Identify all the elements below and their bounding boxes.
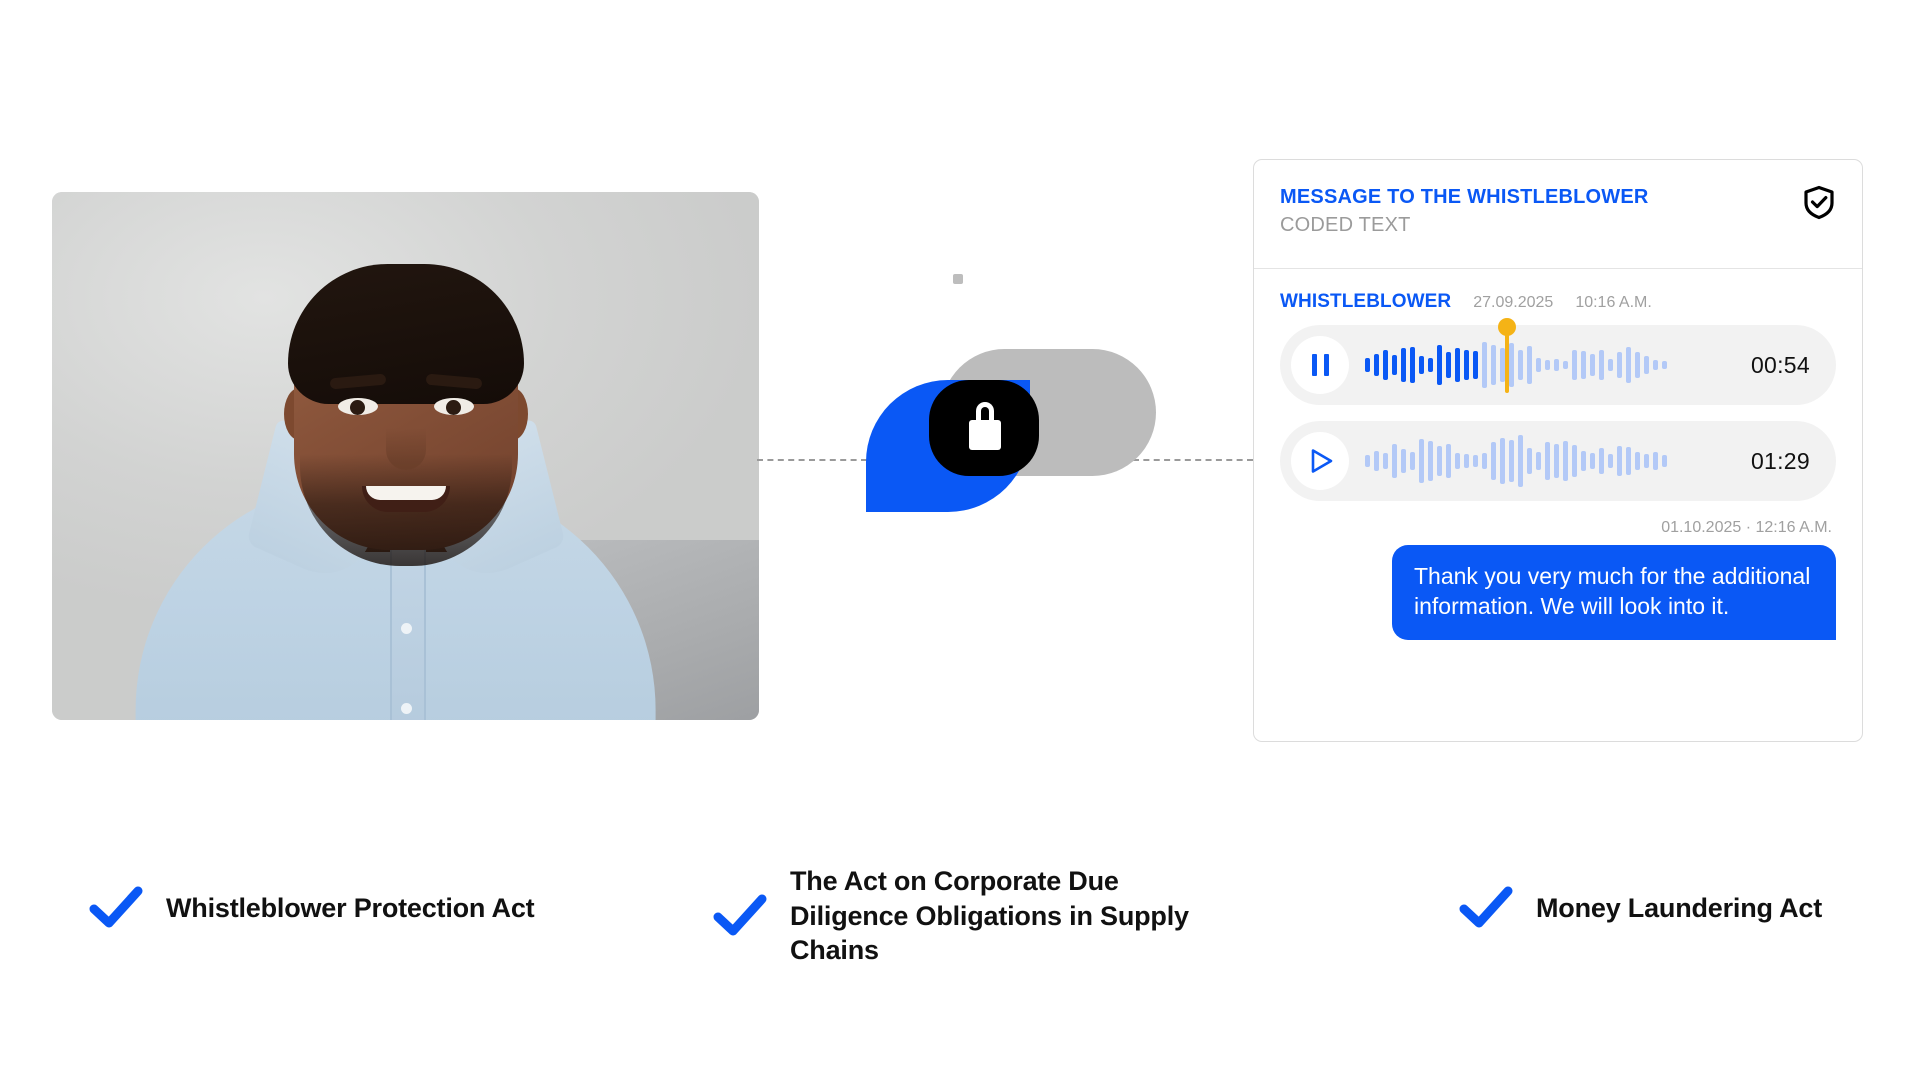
shirt-button bbox=[401, 623, 412, 634]
check-icon bbox=[712, 888, 768, 944]
waveform-bar bbox=[1509, 440, 1514, 482]
waveform-bar bbox=[1617, 352, 1622, 378]
waveform-bar bbox=[1581, 451, 1586, 471]
audio-duration: 00:54 bbox=[1751, 352, 1810, 379]
waveform-bar bbox=[1428, 358, 1433, 372]
blue-leaf-shape bbox=[866, 380, 1030, 512]
lock-shackle bbox=[976, 402, 994, 424]
waveform-bar bbox=[1554, 444, 1559, 478]
reply-time: 12:16 A.M. bbox=[1756, 519, 1833, 536]
waveform-bar bbox=[1518, 435, 1523, 487]
waveform-bar bbox=[1608, 454, 1613, 468]
check-icon bbox=[1458, 880, 1514, 936]
reply-separator: · bbox=[1746, 519, 1751, 536]
waveform-bar bbox=[1437, 345, 1442, 385]
audio-waveform[interactable] bbox=[1365, 337, 1733, 393]
shield-check-icon bbox=[1801, 184, 1837, 220]
waveform-bar bbox=[1374, 354, 1379, 376]
waveform-bar bbox=[1383, 453, 1388, 469]
waveform-bar bbox=[1464, 350, 1469, 380]
teeth-shape bbox=[366, 486, 446, 500]
waveform-bar bbox=[1374, 451, 1379, 471]
waveform-bar bbox=[1437, 446, 1442, 476]
audio-message-row[interactable]: 01:29 bbox=[1280, 421, 1836, 501]
waveform-bar bbox=[1554, 359, 1559, 371]
message-sender: WHISTLEBLOWER bbox=[1280, 291, 1451, 313]
message-meta: WHISTLEBLOWER 27.09.2025 10:16 A.M. bbox=[1280, 291, 1836, 313]
waveform-bar bbox=[1653, 452, 1658, 470]
audio-playhead[interactable] bbox=[1505, 331, 1509, 393]
waveform-bar bbox=[1662, 455, 1667, 467]
dashed-line-left bbox=[757, 459, 867, 461]
waveform-bar bbox=[1383, 350, 1388, 380]
waveform-bar bbox=[1365, 455, 1370, 467]
message-date: 27.09.2025 bbox=[1473, 294, 1553, 312]
waveform-bar bbox=[1662, 361, 1667, 369]
waveform-bar bbox=[1401, 348, 1406, 382]
waveform-bar bbox=[1635, 452, 1640, 470]
eye-left bbox=[338, 398, 378, 415]
waveform-bar bbox=[1599, 350, 1604, 380]
waveform-bar bbox=[1608, 359, 1613, 371]
waveform-bar bbox=[1473, 351, 1478, 379]
waveform-bar bbox=[1491, 442, 1496, 480]
card-title: MESSAGE TO THE WHISTLEBLOWER bbox=[1280, 186, 1836, 209]
eye-right bbox=[434, 398, 474, 415]
waveform-bar bbox=[1527, 346, 1532, 384]
card-subtitle: CODED TEXT bbox=[1280, 214, 1836, 237]
waveform-bar bbox=[1428, 441, 1433, 481]
waveform-bar bbox=[1455, 348, 1460, 382]
waveform-bar bbox=[1419, 356, 1424, 374]
waveform-bar bbox=[1392, 355, 1397, 375]
waveform-bar bbox=[1545, 360, 1550, 370]
waveform-bar bbox=[1500, 438, 1505, 484]
waveform-bar bbox=[1446, 444, 1451, 478]
waveform-bar bbox=[1545, 442, 1550, 480]
waveform-bar bbox=[1626, 347, 1631, 383]
waveform-bar bbox=[1482, 453, 1487, 469]
waveform-bar bbox=[1536, 358, 1541, 372]
waveform-bar bbox=[1509, 343, 1514, 387]
waveform-bar bbox=[1590, 453, 1595, 469]
waveform-bar bbox=[1419, 439, 1424, 483]
gray-pill-shape bbox=[941, 349, 1156, 476]
dashed-line-right bbox=[1133, 459, 1253, 461]
waveform-bar bbox=[1644, 454, 1649, 468]
feature-item-whistleblower-protection-act: Whistleblower Protection Act bbox=[88, 880, 534, 936]
message-card: MESSAGE TO THE WHISTLEBLOWER CODED TEXT … bbox=[1253, 159, 1863, 742]
waveform-bar bbox=[1572, 445, 1577, 477]
waveform-bar bbox=[1626, 447, 1631, 475]
reply-meta: 01.10.2025 · 12:16 A.M. bbox=[1280, 519, 1832, 537]
waveform-bar bbox=[1581, 351, 1586, 379]
waveform-bar bbox=[1446, 352, 1451, 378]
lock-body bbox=[969, 420, 1001, 450]
waveform-bar bbox=[1455, 453, 1460, 469]
reply-date: 01.10.2025 bbox=[1661, 519, 1741, 536]
shirt-button bbox=[401, 703, 412, 714]
waveform-bar bbox=[1653, 360, 1658, 370]
waveform-bar bbox=[1410, 452, 1415, 470]
audio-waveform[interactable] bbox=[1365, 433, 1733, 489]
card-header: MESSAGE TO THE WHISTLEBLOWER CODED TEXT bbox=[1254, 160, 1862, 269]
waveform-bar bbox=[1365, 358, 1370, 372]
black-badge-shape bbox=[929, 380, 1039, 476]
card-body: WHISTLEBLOWER 27.09.2025 10:16 A.M. 00:5… bbox=[1254, 269, 1862, 640]
square-dot-icon bbox=[953, 274, 963, 284]
waveform-bar bbox=[1527, 448, 1532, 474]
pause-icon bbox=[1312, 354, 1329, 376]
feature-label: Money Laundering Act bbox=[1536, 891, 1822, 926]
waveform-bar bbox=[1392, 444, 1397, 478]
waveform-bar bbox=[1644, 356, 1649, 374]
play-button[interactable] bbox=[1291, 432, 1349, 490]
feature-item-money-laundering-act: Money Laundering Act bbox=[1458, 880, 1822, 936]
feature-label: The Act on Corporate Due Diligence Oblig… bbox=[790, 864, 1220, 968]
audio-message-row[interactable]: 00:54 bbox=[1280, 325, 1836, 405]
waveform-bar bbox=[1590, 354, 1595, 376]
reply-bubble: Thank you very much for the additional i… bbox=[1392, 545, 1836, 640]
pause-button[interactable] bbox=[1291, 336, 1349, 394]
waveform-bar bbox=[1617, 446, 1622, 476]
waveform-bar bbox=[1599, 448, 1604, 474]
waveform-bar bbox=[1491, 345, 1496, 385]
message-time: 10:16 A.M. bbox=[1575, 294, 1652, 312]
portrait-photo bbox=[52, 192, 759, 720]
waveform-bar bbox=[1401, 449, 1406, 473]
feature-item-corporate-due-diligence: The Act on Corporate Due Diligence Oblig… bbox=[712, 864, 1220, 968]
lock-icon bbox=[969, 402, 1001, 450]
waveform-bar bbox=[1635, 352, 1640, 378]
waveform-bar bbox=[1464, 454, 1469, 468]
play-icon bbox=[1310, 448, 1334, 474]
waveform-bar bbox=[1482, 342, 1487, 388]
waveform-bar bbox=[1473, 455, 1478, 467]
waveform-bar bbox=[1563, 361, 1568, 369]
mouth-shape bbox=[362, 486, 450, 512]
check-icon bbox=[88, 880, 144, 936]
nose-shape bbox=[386, 428, 426, 470]
feature-label: Whistleblower Protection Act bbox=[166, 891, 534, 926]
waveform-bar bbox=[1536, 452, 1541, 470]
feature-list: Whistleblower Protection Act The Act on … bbox=[0, 862, 1920, 992]
waveform-bar bbox=[1563, 441, 1568, 481]
reply-bubble-wrap: Thank you very much for the additional i… bbox=[1280, 545, 1836, 640]
waveform-bar bbox=[1572, 350, 1577, 380]
waveform-bar bbox=[1518, 350, 1523, 380]
audio-duration: 01:29 bbox=[1751, 448, 1810, 475]
waveform-bar bbox=[1410, 347, 1415, 383]
